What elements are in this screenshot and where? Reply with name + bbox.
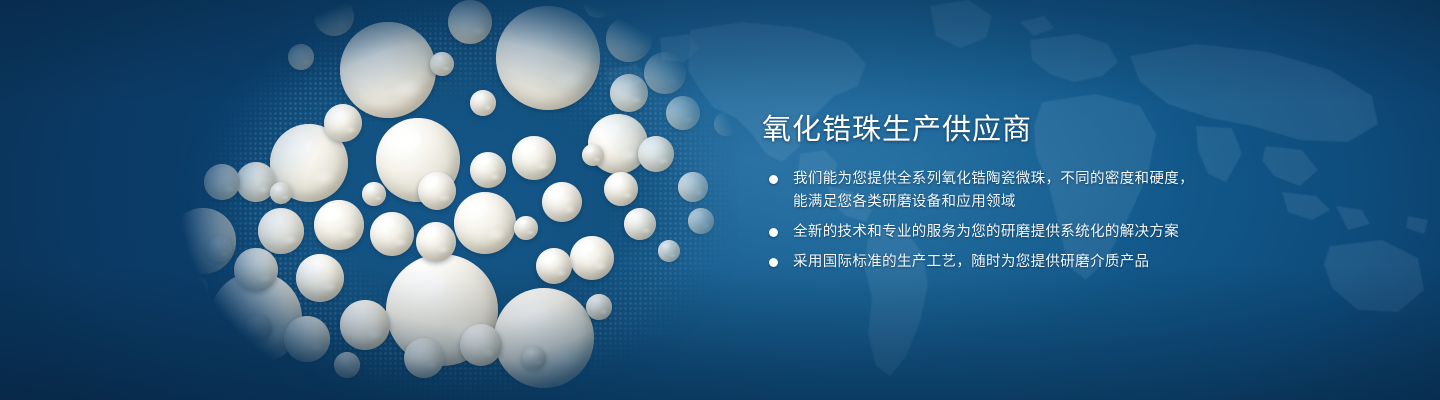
bead bbox=[586, 294, 612, 320]
bead bbox=[244, 314, 272, 342]
bead bbox=[314, 200, 364, 250]
bullet-dot-icon bbox=[769, 258, 778, 267]
list-item-line: 我们能为您提供全系列氧化锆陶瓷微珠，不同的密度和硬度， bbox=[793, 168, 1194, 191]
list-item-text: 我们能为您提供全系列氧化锆陶瓷微珠，不同的密度和硬度， 能满足您各类研磨设备和应… bbox=[793, 168, 1194, 214]
bead bbox=[430, 52, 454, 76]
list-item-line: 能满足您各类研磨设备和应用领域 bbox=[793, 191, 1194, 214]
bead bbox=[314, 0, 354, 36]
bead bbox=[448, 0, 492, 44]
bead bbox=[296, 254, 344, 302]
photo-backdrop bbox=[118, 0, 738, 400]
bead bbox=[284, 316, 330, 362]
bead bbox=[370, 212, 414, 256]
bead bbox=[334, 352, 360, 378]
bead bbox=[644, 52, 686, 94]
bead bbox=[542, 182, 582, 222]
list-item: 采用国际标准的生产工艺，随时为您提供研磨介质产品 bbox=[765, 251, 1194, 274]
bead bbox=[638, 136, 674, 172]
bead bbox=[386, 254, 498, 366]
bead bbox=[454, 192, 516, 254]
bead bbox=[522, 346, 546, 370]
bead bbox=[570, 236, 614, 280]
bead bbox=[514, 216, 538, 240]
list-item-text: 全新的技术和专业的服务为您的研磨提供系统化的解决方案 bbox=[793, 221, 1194, 244]
zirconia-beads-photo bbox=[118, 0, 738, 400]
bead bbox=[210, 272, 302, 364]
bead bbox=[704, 54, 736, 86]
bead bbox=[582, 144, 604, 166]
bead bbox=[610, 74, 648, 112]
bead bbox=[236, 162, 276, 202]
bead bbox=[404, 338, 444, 378]
bead bbox=[170, 208, 236, 274]
bead bbox=[714, 112, 738, 136]
bead bbox=[678, 172, 708, 202]
bead bbox=[416, 222, 456, 262]
bead bbox=[418, 172, 456, 210]
list-item: 全新的技术和专业的服务为您的研磨提供系统化的解决方案 bbox=[765, 221, 1194, 244]
list-item: 我们能为您提供全系列氧化锆陶瓷微珠，不同的密度和硬度， 能满足您各类研磨设备和应… bbox=[765, 168, 1194, 214]
bead bbox=[688, 208, 714, 234]
halftone-dot-texture bbox=[118, 0, 738, 400]
bead bbox=[206, 236, 232, 262]
bead bbox=[724, 16, 750, 42]
bead bbox=[362, 182, 386, 206]
bead bbox=[470, 152, 506, 188]
bead bbox=[258, 208, 304, 254]
bead bbox=[536, 248, 572, 284]
bead bbox=[324, 104, 362, 142]
bead bbox=[658, 240, 680, 262]
banner-feature-list: 我们能为您提供全系列氧化锆陶瓷微珠，不同的密度和硬度， 能满足您各类研磨设备和应… bbox=[765, 168, 1194, 281]
bead bbox=[470, 90, 496, 116]
bead bbox=[512, 136, 556, 180]
bead bbox=[494, 288, 594, 388]
bead bbox=[204, 164, 240, 200]
banner-copy: 氧化锆珠生产供应商 我们能为您提供全系列氧化锆陶瓷微珠，不同的密度和硬度， 能满… bbox=[762, 0, 1382, 400]
bead bbox=[270, 182, 292, 204]
bead bbox=[674, 22, 710, 58]
bead bbox=[624, 208, 656, 240]
bead bbox=[606, 16, 652, 62]
bead bbox=[288, 44, 314, 70]
bead-cluster bbox=[118, 0, 738, 400]
bead bbox=[340, 300, 390, 350]
bullet-dot-icon bbox=[769, 175, 778, 184]
bead bbox=[496, 6, 600, 110]
hero-banner: 氧化锆珠生产供应商 我们能为您提供全系列氧化锆陶瓷微珠，不同的密度和硬度， 能满… bbox=[0, 0, 1440, 400]
list-item-line: 全新的技术和专业的服务为您的研磨提供系统化的解决方案 bbox=[793, 221, 1194, 244]
list-item-line: 采用国际标准的生产工艺，随时为您提供研磨介质产品 bbox=[793, 251, 1194, 274]
bead bbox=[460, 324, 502, 366]
bead bbox=[588, 114, 648, 174]
bead bbox=[184, 276, 208, 300]
bead bbox=[270, 124, 348, 202]
bead bbox=[604, 172, 638, 206]
banner-headline: 氧化锆珠生产供应商 bbox=[762, 110, 1032, 150]
bead bbox=[376, 118, 460, 202]
bead bbox=[584, 0, 612, 18]
bead bbox=[666, 96, 700, 130]
bead bbox=[234, 248, 278, 292]
list-item-text: 采用国际标准的生产工艺，随时为您提供研磨介质产品 bbox=[793, 251, 1194, 274]
bullet-dot-icon bbox=[769, 228, 778, 237]
bead bbox=[340, 22, 436, 118]
